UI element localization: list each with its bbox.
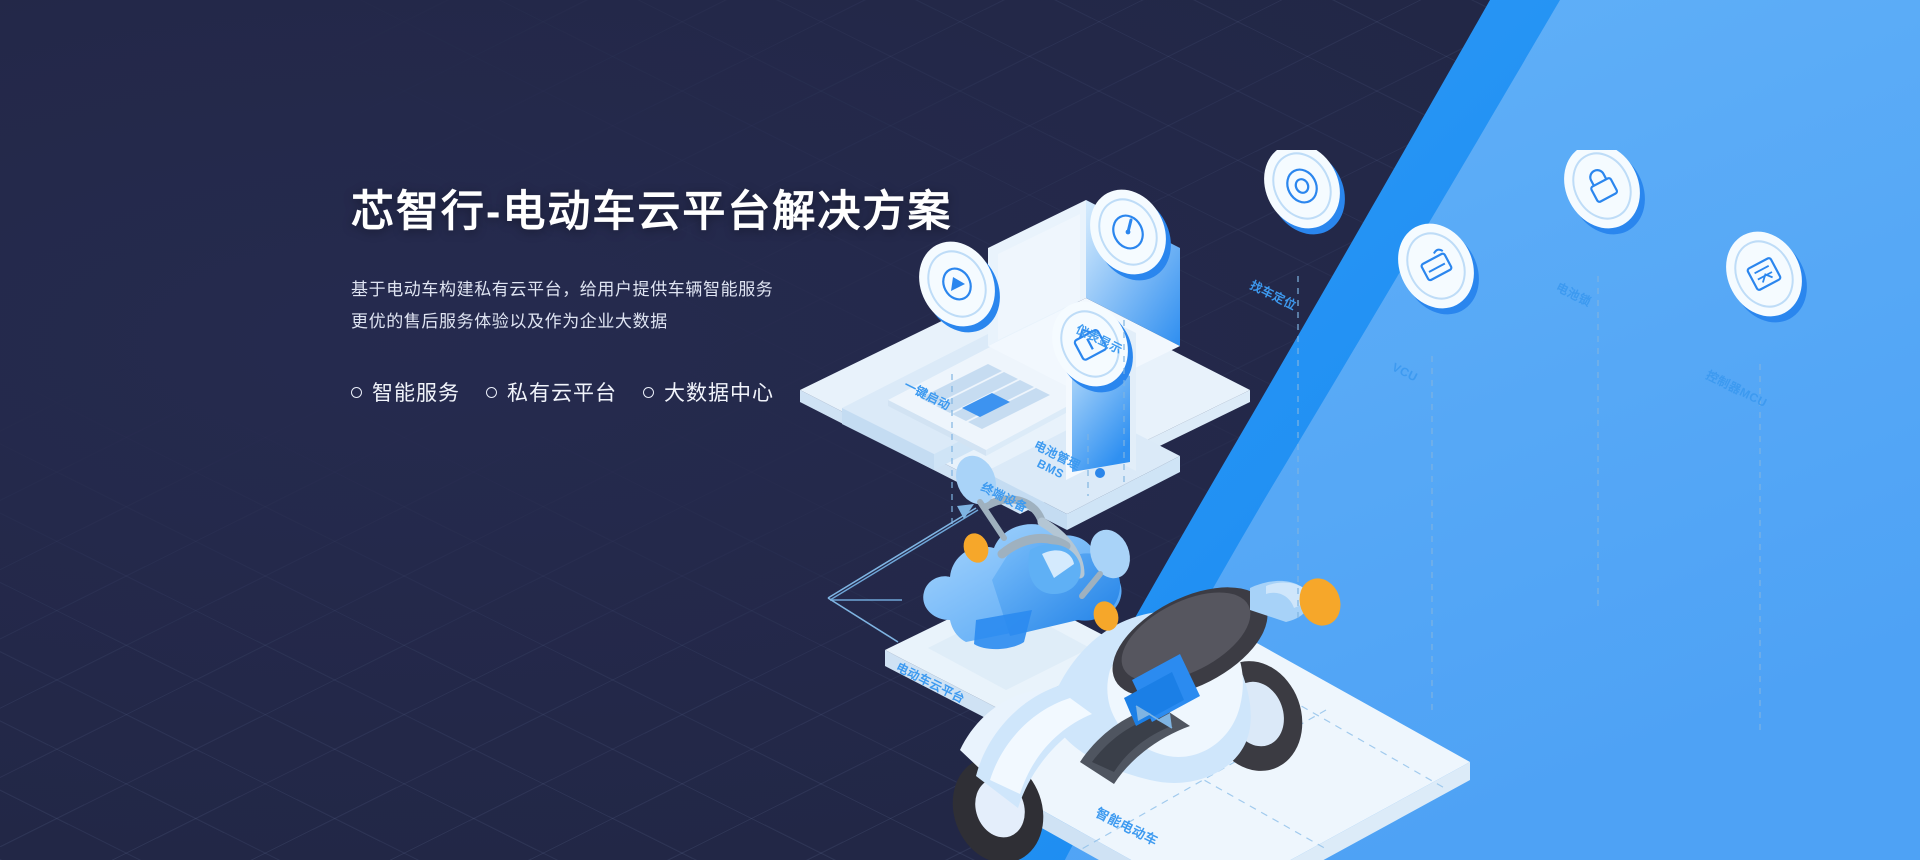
circle-outline-icon: [486, 387, 497, 398]
feature-disc-vcu[interactable]: [1384, 210, 1494, 328]
illustration-svg: [780, 150, 1920, 860]
feature-item-big-data[interactable]: 大数据中心: [643, 377, 774, 407]
isometric-illustration: 终端设备 电动车云平台 智能电动车 一键启动 仪表显示 找车定位 电池管理 BM…: [780, 150, 1920, 860]
feature-label: 智能服务: [372, 377, 460, 407]
feature-item-private-cloud[interactable]: 私有云平台: [486, 377, 617, 407]
circle-outline-icon: [643, 387, 654, 398]
feature-disc-battery-lock[interactable]: [1550, 150, 1660, 248]
feature-label: 私有云平台: [507, 377, 617, 407]
feature-disc-vehicle-locate[interactable]: [1250, 150, 1360, 248]
hero-banner: 芯智行-电动车云平台解决方案 基于电动车构建私有云平台，给用户提供车辆智能服务 …: [0, 0, 1920, 860]
feature-label: 大数据中心: [664, 377, 774, 407]
feature-disc-controller-mcu[interactable]: [1712, 218, 1822, 336]
feature-item-smart-service[interactable]: 智能服务: [351, 377, 460, 407]
circle-outline-icon: [351, 387, 362, 398]
